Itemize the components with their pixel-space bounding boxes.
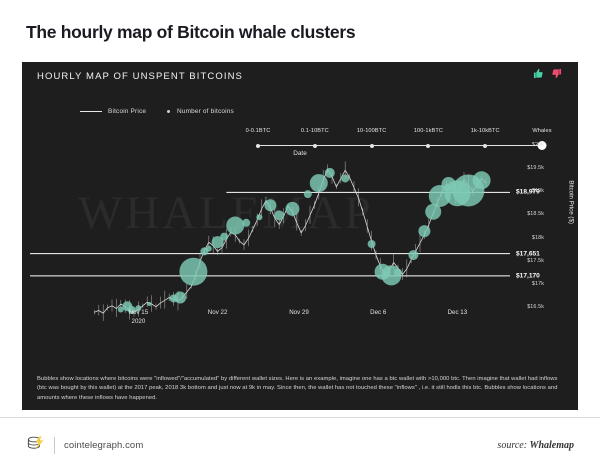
legend-price-label: Bitcoin Price (108, 108, 146, 115)
x-tick-3: Dec 6 (370, 308, 386, 317)
whale-bubble[interactable] (256, 214, 262, 220)
x-tick-year: 2020 (129, 317, 149, 326)
whale-bubble[interactable] (274, 210, 284, 220)
source-prefix: source: (497, 440, 529, 451)
plot-area: WHALEMAP $20k$19.5k$19k$18.5k$18k$17.5k$… (22, 128, 578, 410)
whale-bubble[interactable] (408, 250, 418, 260)
chart-legend: Bitcoin Price Number of bitcoins 0-0.1BT… (22, 98, 578, 126)
brand: cointelegraph.com (26, 434, 143, 458)
x-tick-4: Dec 13 (448, 308, 468, 317)
x-tick-2: Nov 29 (289, 308, 309, 317)
site-url[interactable]: cointelegraph.com (64, 440, 143, 451)
whale-bubble[interactable] (310, 174, 328, 192)
whale-bubble[interactable] (304, 190, 312, 198)
whale-bubble[interactable] (206, 246, 212, 252)
x-tick-1: Nov 22 (208, 308, 228, 317)
price-annotation-1: $17,651 (516, 250, 540, 257)
infographic-page: The hourly map of Bitcoin whale clusters… (0, 0, 600, 473)
source-credit: source: Whalemap (497, 440, 574, 451)
x-tick-label: Nov 29 (289, 308, 309, 317)
vote-icons (533, 68, 562, 79)
source-name: Whalemap (530, 440, 574, 451)
whale-bubble[interactable] (147, 302, 151, 306)
x-tick-label: Nov 22 (208, 308, 228, 317)
page-title: The hourly map of Bitcoin whale clusters (26, 22, 355, 43)
whale-bubble[interactable] (418, 225, 430, 237)
line-swatch-icon (80, 111, 102, 112)
whale-bubble[interactable] (242, 219, 250, 227)
whale-bubble[interactable] (394, 269, 402, 277)
chart-caption: Bubbles show locations where bitcoins we… (37, 375, 563, 403)
whale-bubble[interactable] (226, 217, 244, 235)
y-tick-4: $18k (532, 235, 544, 241)
whale-bubble[interactable] (473, 171, 491, 189)
whale-bubble[interactable] (174, 292, 186, 304)
chart-title: HOURLY MAP OF UNSPENT BITCOINS (37, 71, 243, 82)
whale-bubble[interactable] (368, 240, 376, 248)
whale-bubble[interactable] (220, 233, 228, 241)
x-tick-0: Nov 152020 (129, 308, 149, 326)
x-tick-label: Nov 15 (129, 308, 149, 317)
y-tick-6: $17k (532, 281, 544, 287)
thumbs-down-icon[interactable] (551, 68, 562, 79)
brand-divider (54, 437, 55, 454)
whale-bubble[interactable] (179, 258, 207, 286)
whale-bubble[interactable] (285, 202, 299, 216)
y-tick-3: $18.5k (527, 211, 544, 217)
x-tick-label: Dec 13 (448, 308, 468, 317)
price-annotation-2: $17,170 (516, 272, 540, 279)
legend-price-key: Bitcoin Price (80, 108, 146, 115)
price-annotation-0: $18,979 (516, 189, 540, 196)
footer: cointelegraph.com source: Whalemap (0, 417, 600, 473)
y-tick-1: $19.5k (527, 165, 544, 171)
legend-bubble-key: Number of bitcoins (167, 108, 234, 115)
x-axis: Nov 152020Nov 22Nov 29Dec 6Dec 13 (22, 308, 578, 348)
y-tick-5: $17.5k (527, 258, 544, 264)
thumbs-up-icon[interactable] (533, 68, 544, 79)
y-axis-title: Bitcoin Price ($) (568, 180, 575, 224)
whale-bubble[interactable] (325, 168, 335, 178)
price-line (94, 169, 486, 313)
chart-canvas (22, 128, 578, 410)
legend-bubble-label: Number of bitcoins (177, 108, 234, 115)
x-tick-label: Dec 6 (370, 308, 386, 317)
whale-bubble[interactable] (341, 174, 349, 182)
y-tick-0: $20k (532, 142, 544, 148)
x-axis-title: Date (293, 150, 307, 157)
cointelegraph-logo-icon (26, 434, 45, 458)
whale-bubble[interactable] (264, 199, 276, 211)
dot-swatch-icon (167, 110, 170, 113)
chart-panel: HOURLY MAP OF UNSPENT BITCOINS Bitcoin P… (22, 62, 578, 410)
